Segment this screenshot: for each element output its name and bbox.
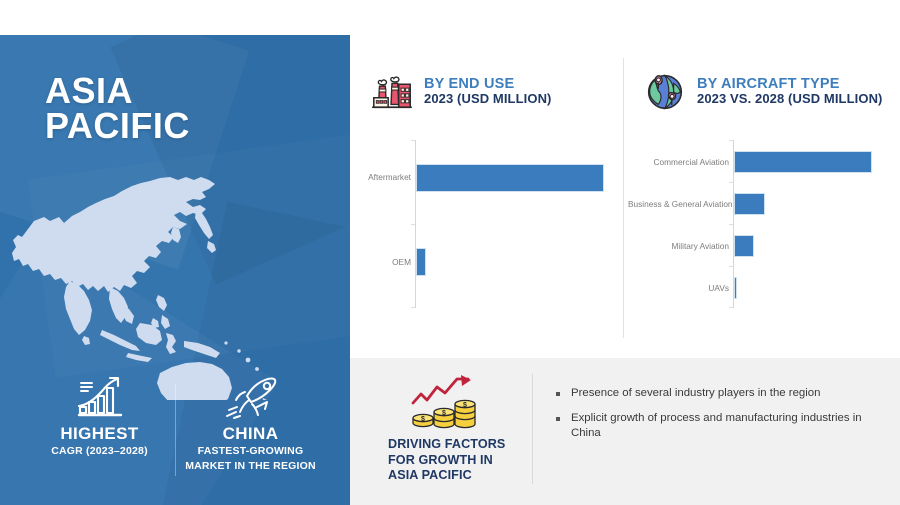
driving-factors-list: Presence of several industry players in … xyxy=(556,386,886,451)
axis-tick xyxy=(411,224,415,225)
axis-tick xyxy=(729,140,733,141)
stat-highest-cagr: HIGHEST CAGR (2023–2028) xyxy=(25,372,175,458)
bottom-divider xyxy=(532,374,533,484)
chart-header: BY AIRCRAFT TYPE 2023 VS. 2028 (USD MILL… xyxy=(642,68,882,114)
bar-military-aviation xyxy=(734,235,754,257)
driving-title-line2: FOR GROWTH IN xyxy=(388,453,514,469)
bullet-square-icon xyxy=(556,417,560,421)
axis-tick xyxy=(729,182,733,183)
end-use-plot: Aftermarket OEM xyxy=(355,140,623,320)
category-label: Business & General Aviation xyxy=(628,199,729,209)
axis-tick xyxy=(729,307,733,308)
globe-pins-icon xyxy=(642,68,688,114)
category-label: UAVs xyxy=(628,283,729,293)
region-title: ASIA PACIFIC xyxy=(45,73,190,143)
coins-growth-arrow-icon: $ $ $ xyxy=(374,372,514,434)
list-item: Presence of several industry players in … xyxy=(556,386,886,402)
chart-subtitle: 2023 VS. 2028 (USD MILLION) xyxy=(697,92,882,107)
svg-text:$: $ xyxy=(421,416,425,423)
chart-title: BY END USE xyxy=(424,76,551,92)
svg-text:$: $ xyxy=(463,402,467,409)
chart-subtitle: 2023 (USD MILLION) xyxy=(424,92,551,107)
bullet-square-icon xyxy=(556,392,560,396)
driving-title-line1: DRIVING FACTORS xyxy=(388,437,514,453)
driving-factors-strip: $ $ $ xyxy=(350,358,900,505)
chart-header: BY END USE 2023 (USD MILLION) xyxy=(369,68,551,114)
category-label: OEM xyxy=(355,257,411,267)
driving-title-line3: ASIA PACIFIC xyxy=(388,468,514,484)
bar-oem xyxy=(416,248,426,276)
bar-commercial-aviation xyxy=(734,151,872,173)
region-panel: ASIA PACIFIC xyxy=(0,35,350,505)
factory-icon xyxy=(369,68,415,114)
aircraft-type-plot: Commercial Aviation Business & General A… xyxy=(628,140,900,320)
axis-tick xyxy=(729,266,733,267)
bullet-text: Explicit growth of process and manufactu… xyxy=(571,411,886,442)
stat-headline: HIGHEST xyxy=(60,424,138,443)
list-item: Explicit growth of process and manufactu… xyxy=(556,411,886,442)
region-title-line1: ASIA xyxy=(45,73,190,108)
category-label: Military Aviation xyxy=(628,241,729,251)
stat-china-fastest-growing: CHINA FASTEST-GROWING MARKET IN THE REGI… xyxy=(176,372,326,473)
svg-text:$: $ xyxy=(442,410,446,417)
infographic-root: ASIA PACIFIC xyxy=(0,0,900,505)
rocket-businessman-icon xyxy=(223,372,279,420)
axis-tick xyxy=(729,224,733,225)
region-stats: HIGHEST CAGR (2023–2028) CHINA xyxy=(0,372,350,497)
charts-area: BY END USE 2023 (USD MILLION) Aftermarke… xyxy=(350,0,900,358)
bar-business-general-aviation xyxy=(734,193,765,215)
bullet-text: Presence of several industry players in … xyxy=(571,386,820,402)
region-title-line2: PACIFIC xyxy=(45,108,190,143)
axis-tick xyxy=(411,307,415,308)
stat-headline: CHINA xyxy=(223,424,279,443)
chart-by-aircraft-type: BY AIRCRAFT TYPE 2023 VS. 2028 (USD MILL… xyxy=(628,0,900,358)
charts-divider xyxy=(623,58,624,338)
driving-factors-title: DRIVING FACTORS FOR GROWTH IN ASIA PACIF… xyxy=(374,437,514,484)
chart-title: BY AIRCRAFT TYPE xyxy=(697,76,882,92)
category-label: Commercial Aviation xyxy=(628,157,729,167)
driving-factors-block: $ $ $ xyxy=(374,372,514,484)
chart-by-end-use: BY END USE 2023 (USD MILLION) Aftermarke… xyxy=(355,0,623,358)
bar-aftermarket xyxy=(416,164,604,192)
axis-tick xyxy=(411,140,415,141)
stat-subline-1: CAGR (2023–2028) xyxy=(51,445,148,458)
bar-uavs xyxy=(734,277,737,299)
category-label: Aftermarket xyxy=(355,172,411,182)
growth-chart-arrow-icon xyxy=(72,372,128,420)
stat-subline-2: MARKET IN THE REGION xyxy=(185,460,316,473)
asia-pacific-map-icon xyxy=(10,155,340,400)
stat-subline-1: FASTEST-GROWING xyxy=(198,445,304,458)
